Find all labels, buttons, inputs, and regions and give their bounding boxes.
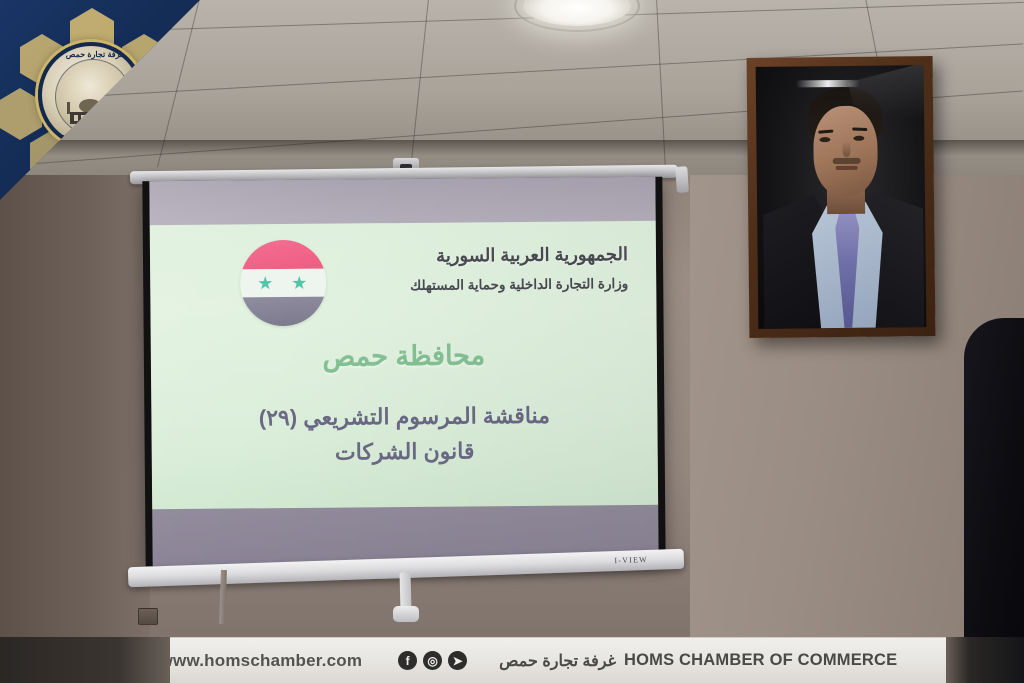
slide-body-text: مناقشة المرسوم التشريعي (٢٩) قانون الشرك… (151, 397, 658, 472)
projected-slide: ★ ★ الجمهورية العربية السورية وزارة التج… (150, 221, 658, 509)
slide-top-band (149, 177, 655, 225)
footer-website-url[interactable]: www.homschamber.com (160, 651, 363, 671)
telegram-icon[interactable]: ➤ (448, 651, 467, 670)
portrait-moustache (833, 158, 861, 164)
branding-footer: www.homschamber.com f ◎ ➤ غرفة تجارة حمص… (0, 637, 1024, 683)
screen-frame: ★ ★ الجمهورية العربية السورية وزارة التج… (142, 177, 665, 567)
screen-roller-end-cap (675, 166, 689, 193)
portrait-mouth (836, 166, 858, 170)
person-shoulder-right-edge (964, 318, 1024, 660)
screen-pull-knob[interactable] (393, 606, 419, 622)
seal-arabic-name: غرفة تجارة حمص (42, 50, 144, 59)
facebook-icon[interactable]: f (398, 651, 417, 670)
flag-band-black (240, 297, 326, 326)
slide-header-text: الجمهورية العربية السورية وزارة التجارة … (298, 241, 628, 297)
framed-portrait (747, 56, 936, 338)
portrait-photo (756, 65, 927, 329)
screen-pull-rod[interactable] (400, 572, 412, 610)
projector-screen: ★ ★ الجمهورية العربية السورية وزارة التج… (136, 168, 672, 588)
slide-ministry-title: وزارة التجارة الداخلية وحماية المستهلك (298, 273, 628, 297)
flag-star-left: ★ (257, 275, 275, 293)
slide-subject-line1: مناقشة المرسوم التشريعي (٢٩) (151, 397, 657, 437)
wall-power-outlet (138, 608, 158, 625)
screen-brand-label: I-VIEW (614, 555, 648, 565)
footer-organization-name: غرفة تجارة حمص HOMS CHAMBER OF COMMERCE (499, 651, 897, 671)
instagram-icon[interactable]: ◎ (423, 651, 442, 670)
portrait-glass-sheen (848, 65, 927, 140)
slide-country-title: الجمهورية العربية السورية (298, 241, 628, 271)
footer-social-links: f ◎ ➤ (398, 651, 467, 670)
slide-subject-line2: قانون الشركات (152, 432, 658, 472)
portrait-nose (842, 141, 850, 157)
screen-surface: ★ ★ الجمهورية العربية السورية وزارة التج… (149, 177, 658, 566)
footer-right-shadow (946, 637, 1024, 683)
slide-header: ★ ★ الجمهورية العربية السورية وزارة التج… (150, 229, 657, 329)
footer-content: www.homschamber.com f ◎ ➤ غرفة تجارة حمص… (127, 651, 898, 671)
footer-left-shadow (0, 637, 170, 683)
photo-stage: غرفة تجارة حمص 1926 HOMS CHAMBER OF COMM… (0, 0, 1024, 683)
footer-name-english: HOMS CHAMBER OF COMMERCE (624, 651, 897, 670)
slide-governorate-title: محافظة حمص (151, 339, 657, 374)
footer-name-arabic: غرفة تجارة حمص (499, 651, 616, 671)
